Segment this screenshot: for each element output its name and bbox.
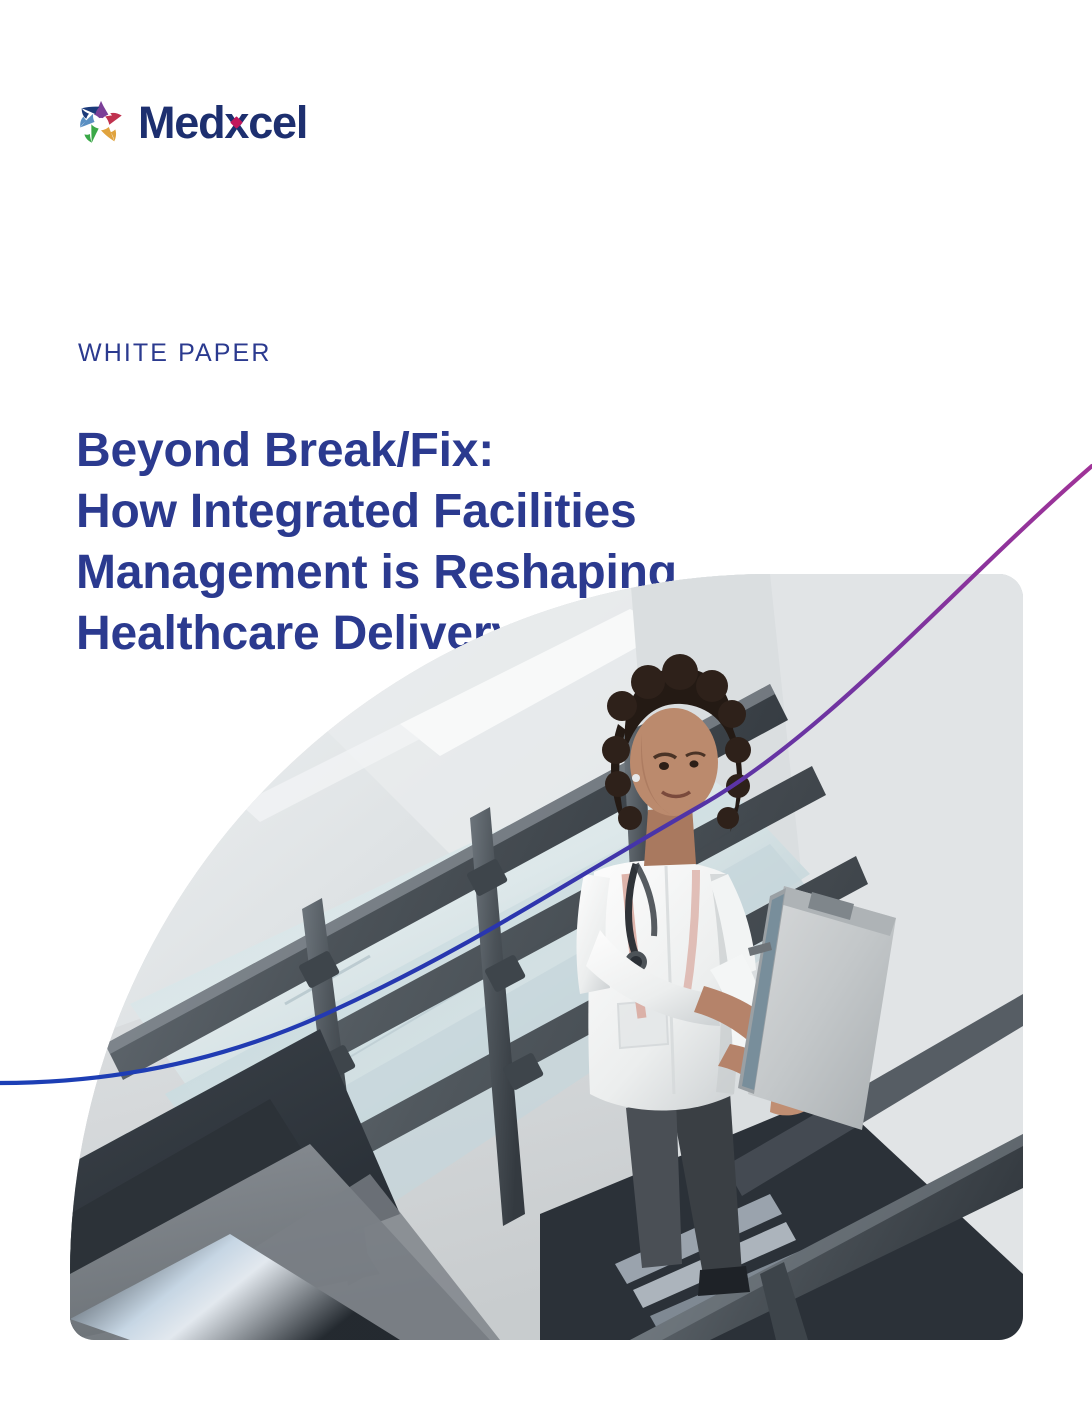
hero-photo-artwork (70, 574, 1023, 1340)
title-line-1: Beyond Break/Fix: (76, 420, 776, 481)
medxcel-pinwheel-star-icon (78, 99, 124, 145)
wordmark-suffix: cel (248, 97, 307, 148)
brand-logo-lockup[interactable]: Medxcel (78, 96, 307, 148)
document-type-eyebrow: WHITE PAPER (78, 339, 272, 368)
title-line-2: How Integrated Facilities (76, 481, 776, 542)
hero-photo-clinician-on-stairs (70, 574, 1023, 1340)
brand-wordmark: Medxcel (138, 100, 307, 145)
wordmark-prefix: Med (138, 97, 224, 148)
white-paper-cover-page: Medxcel WHITE PAPER Beyond Break/Fix: Ho… (0, 0, 1092, 1413)
wordmark-x-glyph: x (224, 100, 248, 145)
